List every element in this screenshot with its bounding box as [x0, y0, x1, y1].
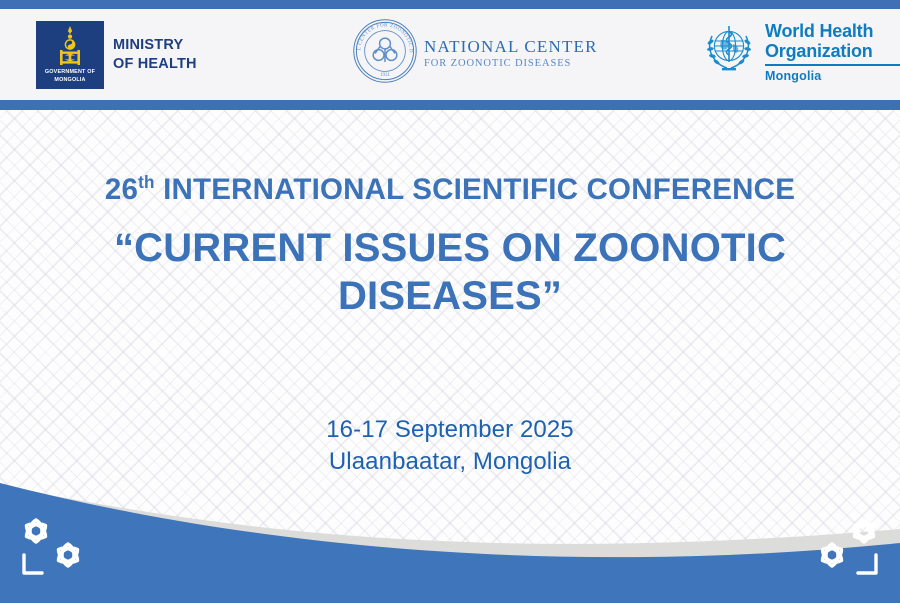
who-wordmark: World Health Organization Mongolia: [765, 22, 900, 83]
page-title: “CURRENT ISSUES ON ZOONOTIC DISEASES”: [0, 225, 900, 319]
ministry-label-line1: MINISTRY: [113, 36, 197, 55]
ncz-wordmark-line1: NATIONAL CENTER: [424, 38, 598, 56]
event-meta-block: 16-17 September 2025 Ulaanbaatar, Mongol…: [0, 414, 900, 478]
who-mongolia-logo: World Health Organization Mongolia: [700, 20, 900, 83]
crest-caption-line2: MONGOLIA: [54, 77, 85, 83]
mongolia-government-crest: GOVERNMENT OF MONGOLIA: [36, 21, 104, 89]
conference-label: INTERNATIONAL SCIENTIFIC CONFERENCE: [163, 173, 795, 206]
ministry-of-health-label: MINISTRY OF HEALTH: [113, 36, 197, 74]
conference-number: 26: [105, 173, 138, 206]
crest-caption: GOVERNMENT OF MONGOLIA: [36, 69, 104, 85]
event-date: 16-17 September 2025: [0, 414, 900, 446]
national-center-zoonotic-diseases-logo: NATIONAL CENTER FOR ZOONOTIC DISEASES 19…: [352, 18, 598, 84]
crest-caption-line1: GOVERNMENT OF: [45, 69, 95, 75]
top-accent-bar: [0, 0, 900, 9]
ministry-of-health-logo: GOVERNMENT OF MONGOLIA MINISTRY OF HEALT…: [36, 21, 197, 89]
who-wordmark-rule: [765, 64, 900, 66]
who-wordmark-line1: World Health: [765, 22, 900, 42]
who-emblem-icon: [700, 20, 758, 78]
conference-title-slide: GOVERNMENT OF MONGOLIA MINISTRY OF HEALT…: [0, 0, 900, 603]
conference-ordinal-suffix: th: [138, 173, 155, 192]
ministry-label-line2: OF HEALTH: [113, 55, 197, 74]
footer-wave-decoration: [0, 473, 900, 603]
who-wordmark-line2: Organization: [765, 42, 900, 62]
national-center-wordmark: NATIONAL CENTER FOR ZOONOTIC DISEASES: [424, 38, 598, 72]
conference-subtitle: 26th INTERNATIONAL SCIENTIFIC CONFERENCE: [0, 172, 900, 207]
ulzii-knot-ornament-right: [794, 511, 886, 581]
header-divider-bar: [0, 100, 900, 110]
soyombo-icon: [49, 25, 91, 71]
title-block: 26th INTERNATIONAL SCIENTIFIC CONFERENCE…: [0, 172, 900, 320]
ulzii-knot-ornament-left: [14, 511, 106, 581]
ncz-wordmark-line2: FOR ZOONOTIC DISEASES: [424, 56, 598, 72]
zoonotic-seal-icon: NATIONAL CENTER FOR ZOONOTIC DISEASES 19…: [352, 18, 418, 84]
svg-text:1931: 1931: [380, 73, 391, 78]
who-country-label: Mongolia: [765, 69, 900, 83]
